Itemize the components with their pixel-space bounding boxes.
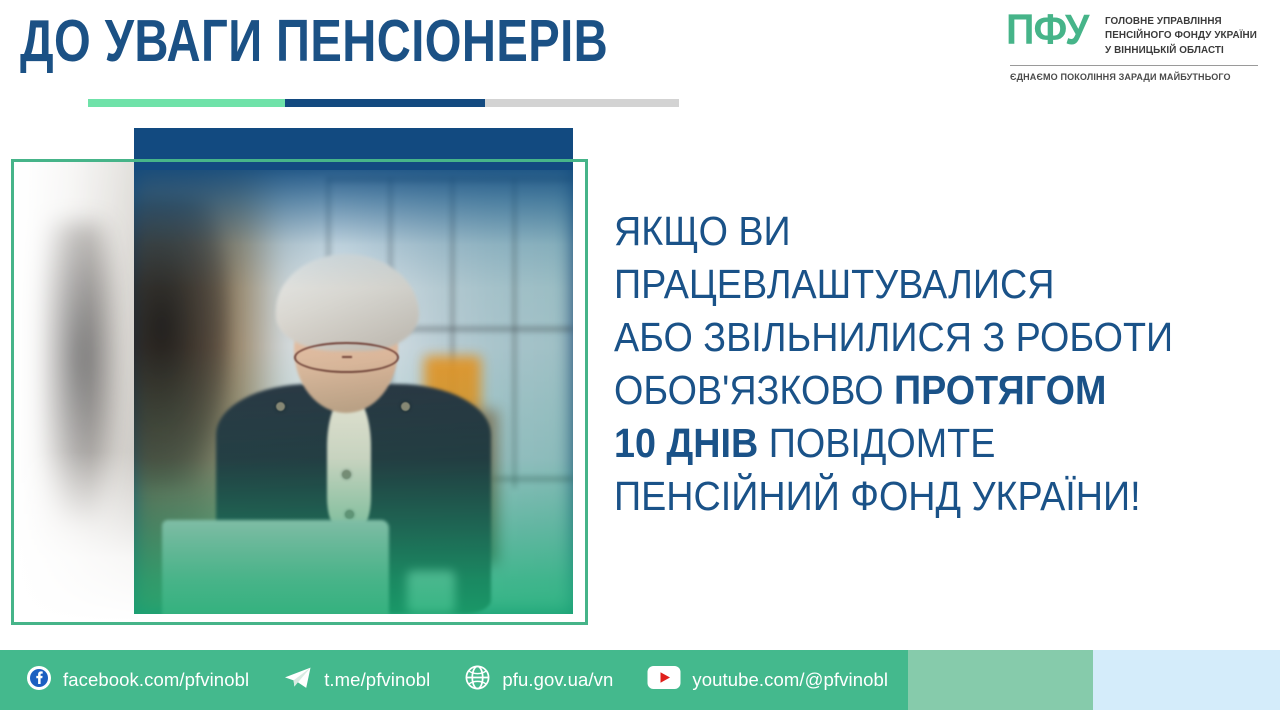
photo-gradient-overlay (134, 128, 573, 614)
message-segment: ОБОВ'ЯЗКОВО (614, 367, 894, 413)
footer-block-right (1093, 650, 1280, 710)
footer-link-label: pfu.gov.ua/vn (502, 669, 613, 691)
telegram-icon (283, 665, 313, 696)
facebook-icon (26, 665, 52, 696)
poster-canvas: ДО УВАГИ ПЕНСІОНЕРІВ ПФУ ГОЛОВНЕ УПРАВЛІ… (0, 0, 1280, 720)
message-line: ОБОВ'ЯЗКОВО ПРОТЯГОМ (614, 364, 1227, 417)
page-title: ДО УВАГИ ПЕНСІОНЕРІВ (20, 12, 608, 71)
footer-links: facebook.com/pfvinobl t.me/pfvinobl (0, 650, 908, 710)
logo-top-row: ПФУ ГОЛОВНЕ УПРАВЛІННЯ ПЕНСІЙНОГО ФОНДУ … (1006, 8, 1268, 57)
message-segment: ПРОТЯГОМ (894, 367, 1106, 413)
accent-bar-group (88, 99, 679, 107)
footer-link-label: youtube.com/@pfvinobl (692, 669, 888, 691)
logo-line-1: ГОЛОВНЕ УПРАВЛІННЯ (1105, 14, 1257, 28)
message-text: ЯКЩО ВИПРАЦЕВЛАШТУВАЛИСЯАБО ЗВІЛЬНИЛИСЯ … (614, 205, 1227, 523)
message-line: ПЕНСІЙНИЙ ФОНД УКРАЇНИ! (614, 470, 1227, 523)
logo-line-2: ПЕНСІЙНОГО ФОНДУ УКРАЇНИ (1105, 28, 1257, 42)
message-segment: АБО ЗВІЛЬНИЛИСЯ З РОБОТИ (614, 314, 1173, 360)
footer-block-mid (908, 650, 1093, 710)
youtube-icon (647, 665, 681, 695)
bottom-white-strip (0, 710, 1280, 720)
pfu-wordmark-icon: ПФУ (1006, 10, 1089, 50)
social-link-facebook[interactable]: facebook.com/pfvinobl (26, 665, 249, 696)
message-line: 10 ДНІВ ПОВІДОМТЕ (614, 417, 1227, 470)
logo-line-3: У ВІННИЦЬКІЙ ОБЛАСТІ (1105, 43, 1257, 57)
message-segment: ЯКЩО ВИ (614, 208, 791, 254)
social-link-website[interactable]: pfu.gov.ua/vn (464, 664, 613, 696)
hero-photo (134, 128, 573, 614)
photo-soft-edge-bottom-fade (14, 452, 138, 622)
globe-icon (464, 664, 491, 696)
accent-bar-blue (285, 99, 485, 107)
pfu-logo: ПФУ ГОЛОВНЕ УПРАВЛІННЯ ПЕНСІЙНОГО ФОНДУ … (1006, 8, 1268, 96)
message-segment: ПЕНСІЙНИЙ ФОНД УКРАЇНИ! (614, 473, 1141, 519)
photo-top-band (134, 128, 573, 170)
message-segment: 10 ДНІВ (614, 420, 758, 466)
logo-tagline: ЄДНАЄМО ПОКОЛІННЯ ЗАРАДИ МАЙБУТНЬОГО (1010, 72, 1255, 83)
message-segment: ПРАЦЕВЛАШТУВАЛИСЯ (614, 261, 1054, 307)
message-line: ПРАЦЕВЛАШТУВАЛИСЯ (614, 258, 1227, 311)
logo-divider (1010, 65, 1258, 66)
footer-link-label: t.me/pfvinobl (324, 669, 430, 691)
message-segment: ПОВІДОМТЕ (758, 420, 995, 466)
social-link-telegram[interactable]: t.me/pfvinobl (283, 665, 430, 696)
footer-link-label: facebook.com/pfvinobl (63, 669, 249, 691)
footer-bar: facebook.com/pfvinobl t.me/pfvinobl (0, 650, 1280, 710)
accent-bar-green (88, 99, 285, 107)
social-link-youtube[interactable]: youtube.com/@pfvinobl (647, 665, 888, 695)
logo-org-lines: ГОЛОВНЕ УПРАВЛІННЯ ПЕНСІЙНОГО ФОНДУ УКРА… (1105, 8, 1257, 57)
message-line: ЯКЩО ВИ (614, 205, 1227, 258)
message-line: АБО ЗВІЛЬНИЛИСЯ З РОБОТИ (614, 311, 1227, 364)
accent-bar-gray (485, 99, 679, 107)
photo-soft-edge (14, 162, 138, 622)
